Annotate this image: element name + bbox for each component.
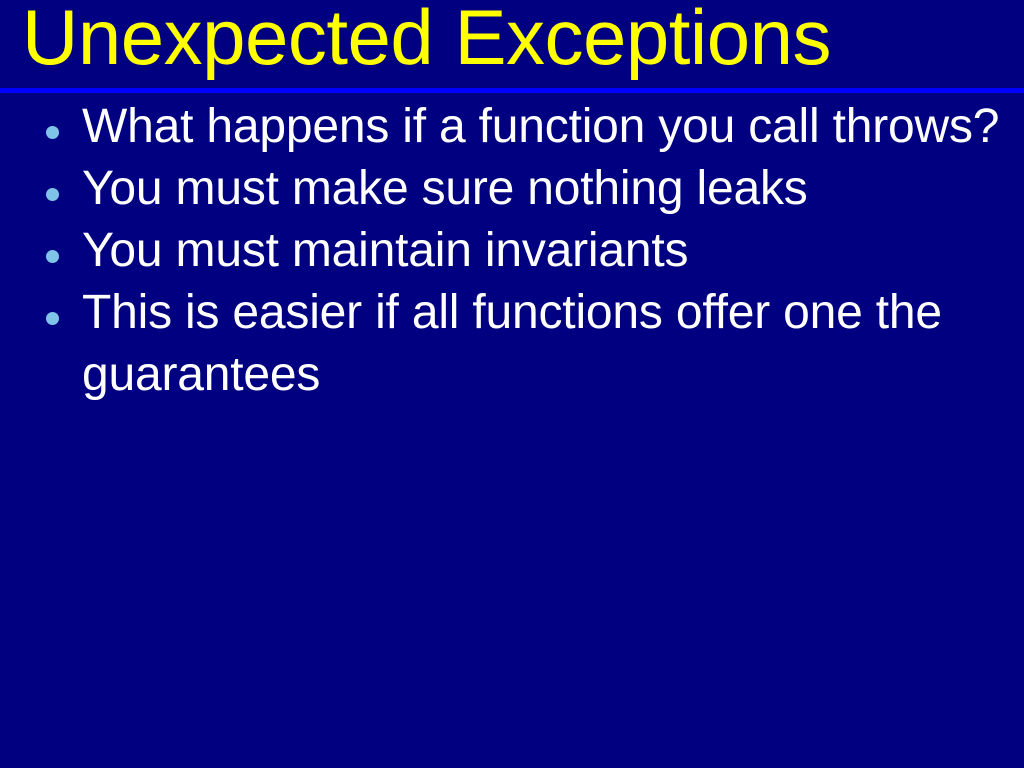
title-divider-rule (0, 88, 1024, 93)
list-item-label: This is easier if all functions offer on… (82, 282, 1024, 406)
slide-title-area: Unexpected Exceptions (0, 0, 1024, 89)
list-item: You must maintain invariants (0, 220, 1024, 282)
list-item-label: What happens if a function you call thro… (82, 96, 1024, 158)
list-item-label: You must maintain invariants (82, 220, 1024, 282)
page-title: Unexpected Exceptions (22, 0, 831, 80)
list-item-label: You must make sure nothing leaks (82, 158, 1024, 220)
bullet-list: What happens if a function you call thro… (0, 96, 1024, 406)
presentation-slide: Unexpected Exceptions What happens if a … (0, 0, 1024, 768)
bullet-dot-icon (46, 312, 59, 325)
bullet-dot-icon (46, 126, 59, 139)
list-item: This is easier if all functions offer on… (0, 282, 1024, 406)
list-item: What happens if a function you call thro… (0, 96, 1024, 158)
list-item: You must make sure nothing leaks (0, 158, 1024, 220)
slide-body: What happens if a function you call thro… (0, 96, 1024, 406)
bullet-dot-icon (46, 250, 59, 263)
bullet-dot-icon (46, 188, 59, 201)
